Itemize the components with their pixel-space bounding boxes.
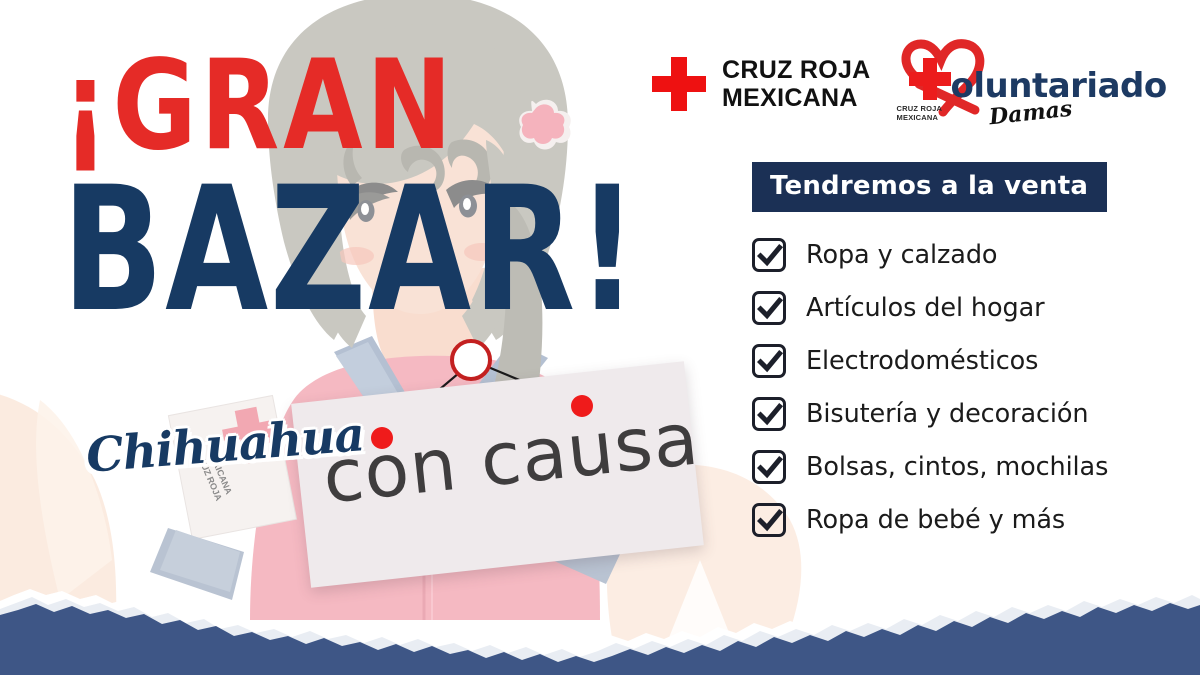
logo-row: CRUZ ROJA MEXICANA CRUZ ROJA MEXICANA ol… [650, 38, 1120, 130]
list-item[interactable]: Artículos del hogar [752, 291, 1172, 325]
checkbox-checked-icon[interactable] [752, 450, 786, 484]
list-item[interactable]: Electrodomésticos [752, 344, 1172, 378]
panel-banner-title: Tendremos a la venta [752, 162, 1107, 212]
list-item-label: Bolsas, cintos, mochilas [806, 452, 1108, 482]
list-item[interactable]: Bisutería y decoración [752, 397, 1172, 431]
vol-sub-line1: CRUZ ROJA [897, 104, 943, 113]
vol-sub-line2: MEXICANA [897, 113, 943, 122]
cruz-roja-line2: MEXICANA [722, 84, 871, 112]
list-item[interactable]: Ropa de bebé y más [752, 503, 1172, 537]
sale-items-panel: Tendremos a la venta Ropa y calzado Artí… [752, 162, 1172, 556]
list-item-label: Ropa de bebé y más [806, 505, 1065, 535]
checkbox-checked-icon[interactable] [752, 238, 786, 272]
torn-paper-footer [0, 565, 1200, 675]
list-item-label: Bisutería y decoración [806, 399, 1088, 429]
red-cross-icon [650, 55, 708, 113]
list-item[interactable]: Bolsas, cintos, mochilas [752, 450, 1172, 484]
sale-items-list: Ropa y calzado Artículos del hogar Elect… [752, 238, 1172, 537]
list-item[interactable]: Ropa y calzado [752, 238, 1172, 272]
list-item-label: Artículos del hogar [806, 293, 1045, 323]
checkbox-checked-icon[interactable] [752, 397, 786, 431]
poster-canvas: CRUZ ROJA MEXICANA [0, 0, 1200, 675]
checkbox-checked-icon[interactable] [752, 291, 786, 325]
cruz-roja-mexicana-logo: CRUZ ROJA MEXICANA [650, 55, 871, 113]
red-pin-left [371, 427, 393, 449]
cruz-roja-label: CRUZ ROJA MEXICANA [722, 56, 871, 112]
voluntariado-damas-logo: CRUZ ROJA MEXICANA oluntariado Damas [889, 38, 1119, 130]
checkbox-checked-icon[interactable] [752, 344, 786, 378]
list-item-label: Electrodomésticos [806, 346, 1038, 376]
voluntariado-sublabel: CRUZ ROJA MEXICANA [897, 104, 943, 123]
checkbox-checked-icon[interactable] [752, 503, 786, 537]
list-item-label: Ropa y calzado [806, 240, 997, 270]
cruz-roja-line1: CRUZ ROJA [722, 56, 871, 84]
red-pin-right [571, 395, 593, 417]
